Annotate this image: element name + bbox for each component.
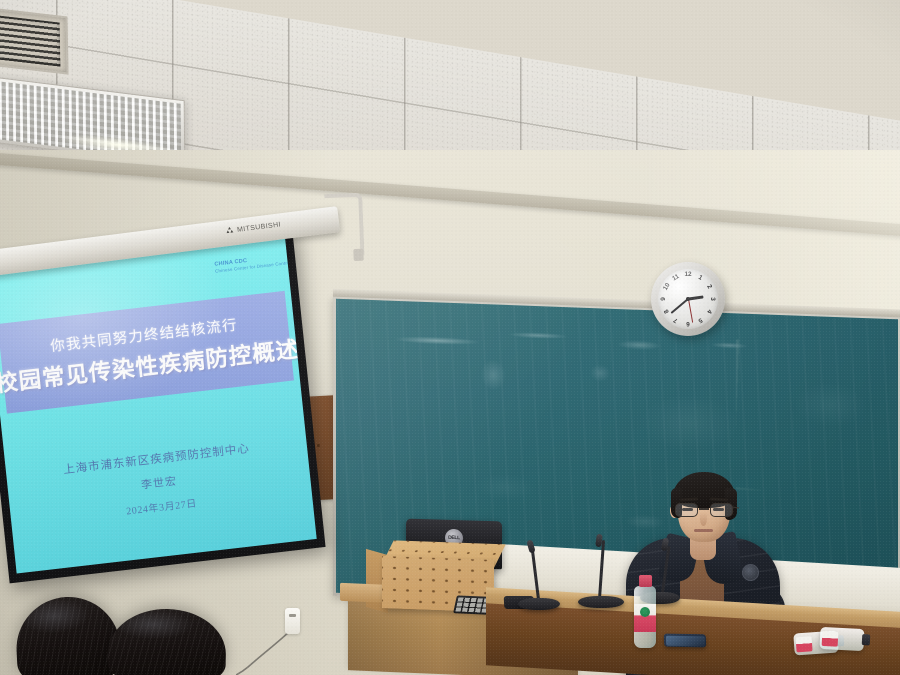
bottle-label [796, 636, 813, 652]
vent-slats [0, 12, 60, 67]
microphone-base [518, 598, 560, 610]
eyeglass-bridge [699, 508, 709, 510]
wall-clock: 12 1 2 3 4 5 6 7 8 9 10 11 [651, 262, 725, 336]
bottle-label [822, 631, 839, 647]
bottle-cap [862, 634, 871, 645]
jacket-pocket-emblem [742, 564, 759, 581]
classroom-photo-scene: 12 1 2 3 4 5 6 7 8 9 10 11 MITSU [0, 0, 900, 675]
slide-date: 2024年3月27日 [125, 494, 197, 517]
smartphone[interactable] [664, 634, 706, 648]
eyeglass-temple [732, 506, 739, 508]
slide-logo: CHINA CDC Chinese Center for Disease Con… [211, 245, 280, 282]
bottle-cap [639, 575, 652, 587]
presenter-mouth [694, 529, 713, 532]
eyeglass-lens-left [675, 503, 698, 517]
presenter-nose [700, 512, 707, 526]
water-bottle-lying [819, 627, 864, 651]
screen-brand-text: MITSUBISHI [237, 221, 282, 233]
slide-footer: 上海市浦东新区疾病预防控制中心 李世宏 2024年3月27日 [6, 433, 313, 530]
power-outlet [285, 608, 300, 634]
projected-slide: CHINA CDC Chinese Center for Disease Con… [0, 238, 317, 573]
slide-organization: 上海市浦东新区疾病预防控制中心 [62, 440, 250, 477]
clock-glass-reflection [658, 269, 718, 329]
bottle-label [634, 604, 656, 632]
hvac-vent-icon [0, 4, 68, 75]
mitsubishi-diamond-icon [225, 226, 235, 235]
screen-brand-label: MITSUBISHI [225, 220, 282, 235]
projection-screen: CHINA CDC Chinese Center for Disease Con… [0, 231, 326, 584]
eyeglass-lens-right [710, 503, 733, 517]
slide-presenter: 李世宏 [140, 473, 177, 493]
screen-mount-bracket [324, 193, 364, 256]
clock-face: 12 1 2 3 4 5 6 7 8 9 10 11 [658, 269, 718, 329]
bottle-label-leaf-icon [640, 607, 650, 617]
microphone-base [578, 596, 624, 608]
slide-title-band: 你我共同努力终结结核流行 校园常见传染性疾病防控概述 [0, 291, 294, 414]
cdc-swirl-icon [211, 255, 214, 281]
